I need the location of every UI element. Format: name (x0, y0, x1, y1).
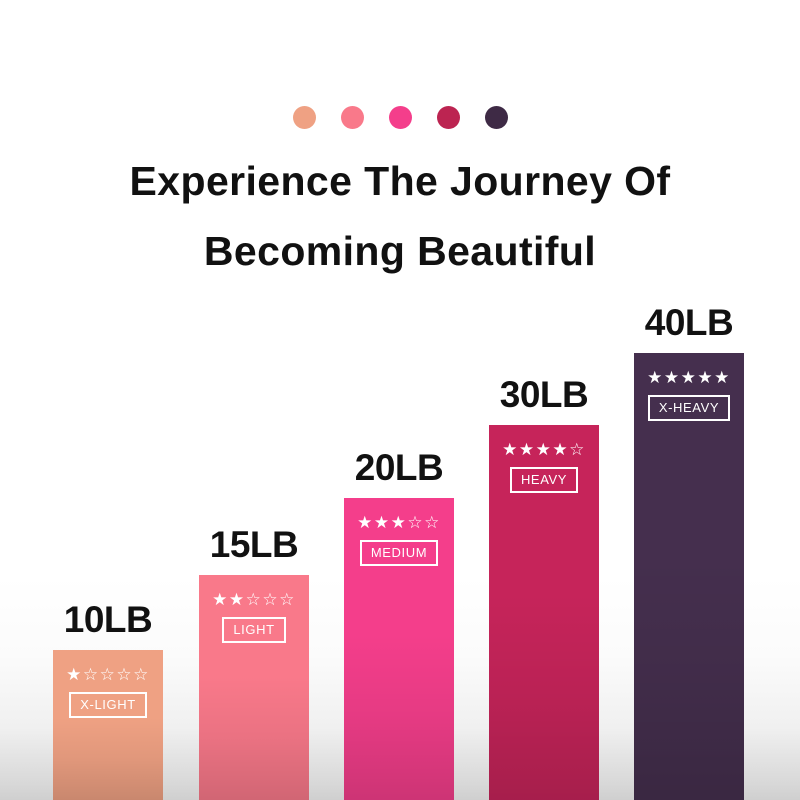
weight-label-30lb: 30LB (467, 376, 621, 413)
star-rating-icon: ★★☆☆☆ (212, 591, 296, 608)
resistance-band-bar-chart: 10LB★☆☆☆☆X-LIGHT15LB★★☆☆☆LIGHT20LB★★★☆☆M… (0, 0, 800, 800)
star-rating-icon: ★★★☆☆ (357, 514, 441, 531)
badge-block-x-light: ★☆☆☆☆X-LIGHT (53, 666, 163, 718)
weight-label-20lb: 20LB (322, 449, 476, 486)
weight-label-10lb: 10LB (31, 601, 185, 638)
level-badge-heavy: HEAVY (510, 467, 578, 493)
bar-group-20lb[interactable]: 20LB★★★☆☆MEDIUM (344, 498, 454, 800)
weight-label-15lb: 15LB (177, 526, 331, 563)
star-rating-icon: ★★★★★ (647, 369, 731, 386)
bar-group-30lb[interactable]: 30LB★★★★☆HEAVY (489, 425, 599, 800)
infographic-canvas: Experience The Journey Of Becoming Beaut… (0, 0, 800, 800)
bar-group-10lb[interactable]: 10LB★☆☆☆☆X-LIGHT (53, 650, 163, 800)
badge-block-light: ★★☆☆☆LIGHT (199, 591, 309, 643)
weight-label-40lb: 40LB (612, 304, 766, 341)
badge-block-medium: ★★★☆☆MEDIUM (344, 514, 454, 566)
level-badge-light: LIGHT (222, 617, 285, 643)
bar-group-15lb[interactable]: 15LB★★☆☆☆LIGHT (199, 575, 309, 800)
star-rating-icon: ★★★★☆ (502, 441, 586, 458)
level-badge-x-heavy: X-HEAVY (648, 395, 730, 421)
level-badge-medium: MEDIUM (360, 540, 438, 566)
star-rating-icon: ★☆☆☆☆ (66, 666, 150, 683)
badge-block-x-heavy: ★★★★★X-HEAVY (634, 369, 744, 421)
bar-group-40lb[interactable]: 40LB★★★★★X-HEAVY (634, 353, 744, 800)
badge-block-heavy: ★★★★☆HEAVY (489, 441, 599, 493)
level-badge-x-light: X-LIGHT (69, 692, 146, 718)
